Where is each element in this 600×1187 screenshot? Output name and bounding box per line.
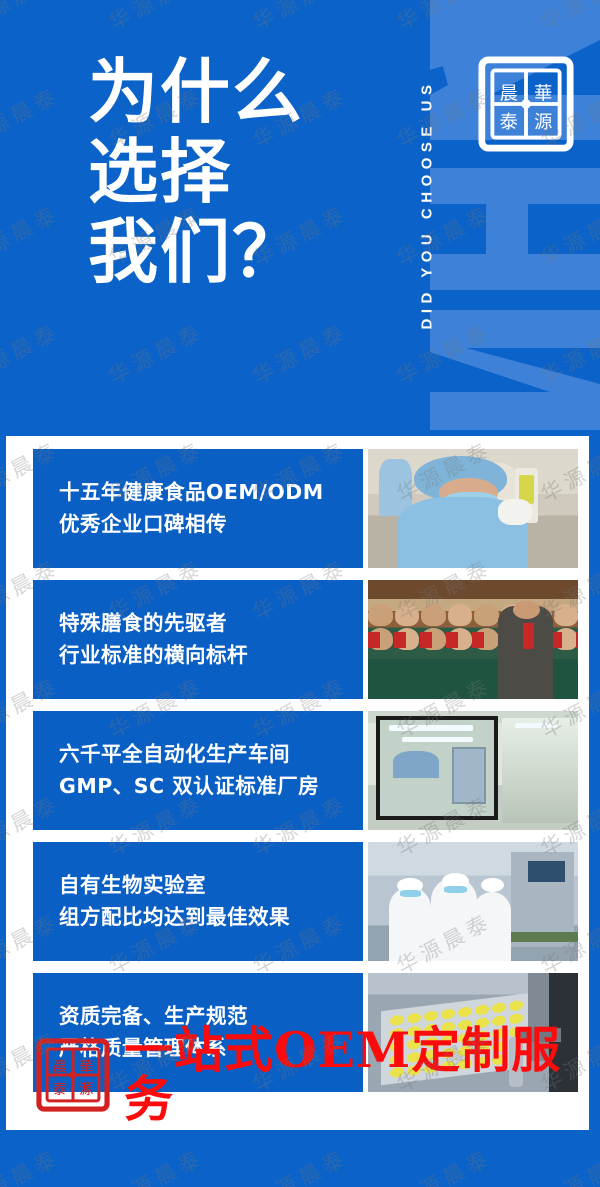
vertical-subtitle-text: DID YOU CHOOSE US — [419, 30, 436, 380]
feature-line-1: 自有生物实验室 — [59, 870, 363, 901]
brand-seal-icon-top: 晨 華 泰 源 — [478, 56, 574, 152]
feature-line-1: 特殊膳食的先驱者 — [59, 608, 363, 639]
svg-text:晨: 晨 — [53, 1060, 67, 1076]
feature-card-list: 十五年健康食品OEM/ODM 优秀企业口碑相传 特殊膳食的先驱者 行业标准的横向… — [33, 449, 578, 1104]
feature-line-1: 十五年健康食品OEM/ODM — [59, 477, 363, 508]
feature-image-lab-technician — [368, 449, 578, 568]
bottom-banner: 晨 華 泰 源 一站式OEM定制服务 — [6, 1036, 589, 1114]
watermark-text: 华源晨泰 — [209, 267, 392, 439]
feature-card[interactable]: 自有生物实验室 组方配比均达到最佳效果 — [33, 842, 578, 961]
feature-card-text: 特殊膳食的先驱者 行业标准的横向标杆 — [33, 580, 363, 699]
svg-text:源: 源 — [534, 112, 552, 133]
feature-card[interactable]: 特殊膳食的先驱者 行业标准的横向标杆 — [33, 580, 578, 699]
svg-text:華: 華 — [79, 1060, 93, 1076]
title-line-1: 为什么 — [88, 52, 388, 132]
watermark-text: 华源晨泰 — [0, 267, 103, 439]
feature-image-production-line — [368, 842, 578, 961]
title-line-2: 选择 — [88, 132, 388, 212]
feature-card-text: 六千平全自动化生产车间 GMP、SC 双认证标准厂房 — [33, 711, 363, 830]
feature-line-1: 六千平全自动化生产车间 — [59, 739, 363, 770]
features-panel: 十五年健康食品OEM/ODM 优秀企业口碑相传 特殊膳食的先驱者 行业标准的横向… — [6, 436, 589, 1130]
feature-card[interactable]: 十五年健康食品OEM/ODM 优秀企业口碑相传 — [33, 449, 578, 568]
vertical-subtitle: DID YOU CHOOSE US — [404, 8, 444, 396]
feature-card[interactable]: 六千平全自动化生产车间 GMP、SC 双认证标准厂房 — [33, 711, 578, 830]
brand-seal-icon-bottom: 晨 華 泰 源 — [36, 1038, 110, 1112]
svg-text:源: 源 — [79, 1082, 93, 1098]
feature-image-conference — [368, 580, 578, 699]
feature-line-2: GMP、SC 双认证标准厂房 — [59, 771, 363, 802]
poster-root: 为什么 选择 我们？ DID YOU CHOOSE US 晨 華 泰 源 十五年… — [0, 0, 600, 1187]
feature-line-2: 行业标准的横向标杆 — [59, 640, 363, 671]
banner-slogan: 一站式OEM定制服务 — [124, 1026, 589, 1124]
feature-line-2: 优秀企业口碑相传 — [59, 509, 363, 540]
feature-image-cleanroom — [368, 711, 578, 830]
feature-card-text: 十五年健康食品OEM/ODM 优秀企业口碑相传 — [33, 449, 363, 568]
svg-text:晨: 晨 — [500, 83, 518, 104]
title-line-3: 我们？ — [88, 212, 388, 292]
feature-card-text: 自有生物实验室 组方配比均达到最佳效果 — [33, 842, 363, 961]
feature-line-2: 组方配比均达到最佳效果 — [59, 902, 363, 933]
svg-text:泰: 泰 — [53, 1082, 67, 1098]
svg-text:泰: 泰 — [500, 112, 518, 133]
watermark-text: 华源晨泰 — [65, 267, 248, 439]
page-title: 为什么 选择 我们？ — [88, 52, 388, 291]
svg-text:華: 華 — [534, 83, 552, 104]
